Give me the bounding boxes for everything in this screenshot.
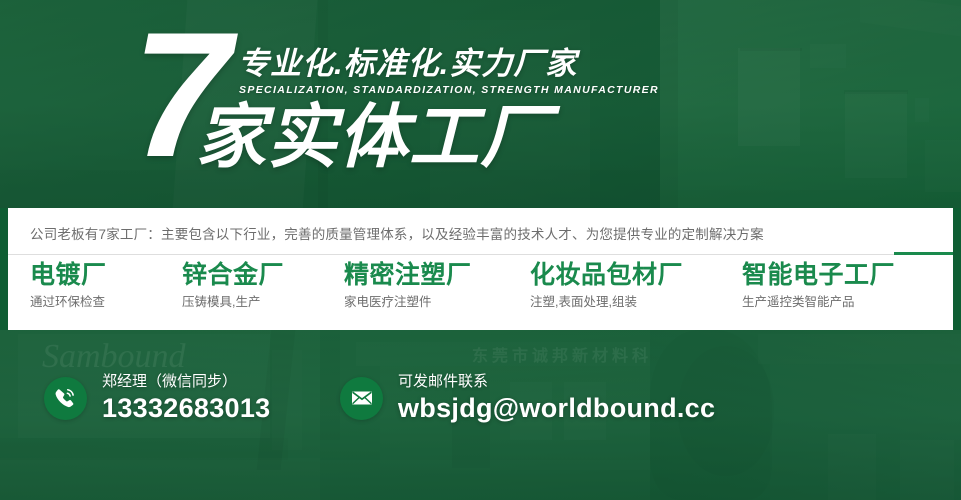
promo-banner: Sambound 东莞市诚邦新材料科技 7 专业化.标准化.实力厂家 <box>0 0 961 500</box>
hero-slogan-cn: 专业化.标准化.实力厂家 <box>238 47 577 81</box>
category-list: 电镀厂 通过环保检查 锌合金厂 压铸模具,生产 精密注塑厂 家电医疗注塑件 化妆… <box>8 260 953 322</box>
category-title: 锌合金厂 <box>182 260 284 290</box>
category-title: 电镀厂 <box>30 260 107 290</box>
panel-divider <box>8 254 953 255</box>
hero-slogan-en: SPECIALIZATION, STANDARDIZATION, STRENGT… <box>239 84 659 96</box>
category-item-smart-electronics[interactable]: 智能电子工厂 生产遥控类智能产品 <box>742 260 895 310</box>
category-subtitle: 压铸模具,生产 <box>182 294 284 310</box>
panel-divider-accent <box>894 252 953 255</box>
contact-phone-value: 13332683013 <box>102 392 270 424</box>
category-item-precision-injection[interactable]: 精密注塑厂 家电医疗注塑件 <box>344 260 472 310</box>
category-item-zinc-alloy[interactable]: 锌合金厂 压铸模具,生产 <box>182 260 284 310</box>
contact-email-value: wbsjdg@worldbound.cc <box>398 392 715 424</box>
contact-email[interactable]: 可发邮件联系 wbsjdg@worldbound.cc <box>340 372 715 424</box>
category-subtitle: 注塑,表面处理,组装 <box>530 294 683 310</box>
category-item-cosmetic-packaging[interactable]: 化妆品包材厂 注塑,表面处理,组装 <box>530 260 683 310</box>
category-title: 精密注塑厂 <box>344 260 472 290</box>
category-subtitle: 生产遥控类智能产品 <box>742 294 895 310</box>
phone-icon <box>44 377 87 420</box>
info-panel: 公司老板有7家工厂：主要包含以下行业，完善的质量管理体系，以及经验丰富的技术人才… <box>8 208 953 330</box>
hero-heading: 7 专业化.标准化.实力厂家 SPECIALIZATION, STANDARDI… <box>0 0 660 208</box>
category-subtitle: 家电医疗注塑件 <box>344 294 472 310</box>
category-subtitle: 通过环保检查 <box>30 294 107 310</box>
envelope-icon <box>340 377 383 420</box>
contact-phone-label: 郑经理（微信同步） <box>102 372 270 392</box>
contact-email-text: 可发邮件联系 wbsjdg@worldbound.cc <box>398 372 715 424</box>
contact-email-label: 可发邮件联系 <box>398 372 715 392</box>
panel-description: 公司老板有7家工厂：主要包含以下行业，完善的质量管理体系，以及经验丰富的技术人才… <box>30 223 764 243</box>
contact-bar: 郑经理（微信同步） 13332683013 可发邮件联系 wbsjdg@worl… <box>0 372 961 447</box>
hero-subtitle-cn: 家实体工厂 <box>196 98 551 176</box>
bg-photo-top-right <box>660 0 961 208</box>
contact-phone-text: 郑经理（微信同步） 13332683013 <box>102 372 270 424</box>
contact-phone[interactable]: 郑经理（微信同步） 13332683013 <box>44 372 270 424</box>
category-item-electroplating[interactable]: 电镀厂 通过环保检查 <box>30 260 107 310</box>
category-title: 智能电子工厂 <box>742 260 895 290</box>
category-title: 化妆品包材厂 <box>530 260 683 290</box>
